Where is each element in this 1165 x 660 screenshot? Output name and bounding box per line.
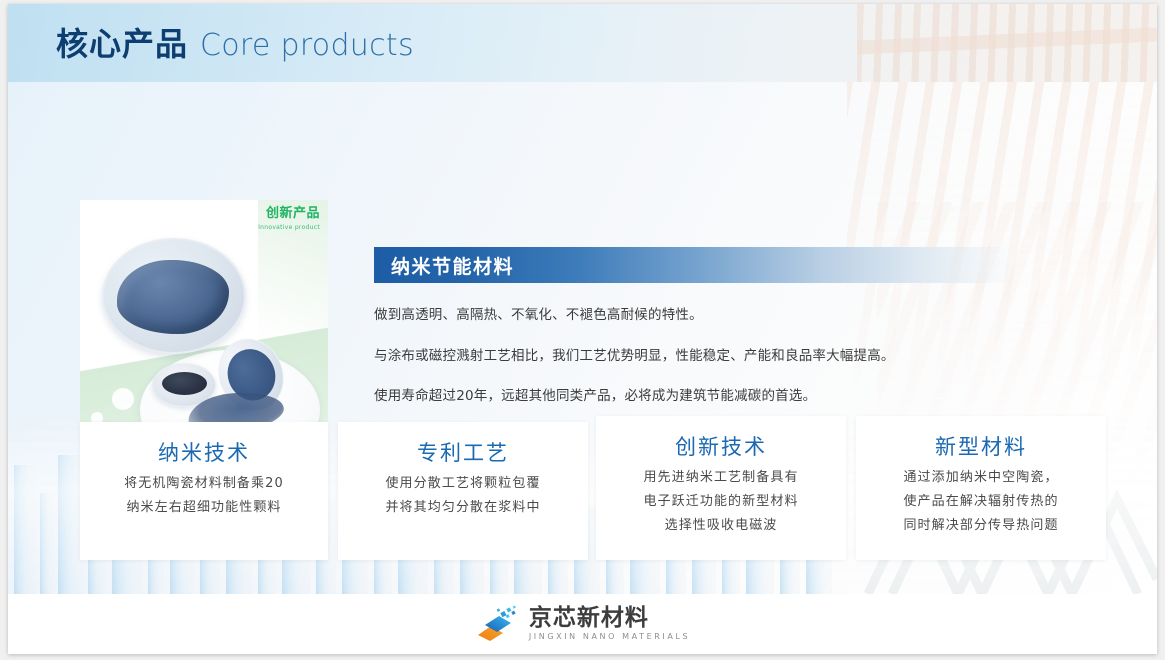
card-title: 创新技术 bbox=[596, 434, 846, 460]
slide: 核心产品Core products bbox=[8, 4, 1157, 654]
dark-grains bbox=[162, 372, 207, 395]
logo-mark-icon bbox=[475, 605, 519, 643]
page-title: 核心产品Core products bbox=[56, 22, 414, 72]
card-innovative-technology[interactable]: 创新技术 用先进纳米工艺制备具有 电子跃迁功能的新型材料 选择性吸收电磁波 bbox=[596, 416, 846, 560]
card-line: 使用分散工艺将颗粒包覆 bbox=[338, 472, 588, 496]
decorative-bubble bbox=[112, 388, 134, 410]
feature-banner: 纳米节能材料 bbox=[374, 247, 1014, 283]
product-image-label-cn: 创新产品 bbox=[258, 206, 320, 222]
logo-company-name-cn: 京芯新材料 bbox=[529, 607, 690, 630]
feature-banner-title: 纳米节能材料 bbox=[391, 252, 514, 279]
product-image-label-en: Innovative product bbox=[258, 224, 320, 232]
feature-block: 纳米节能材料 做到高透明、高隔热、不氧化、不褪色高耐候的特性。 与涂布或磁控溅射… bbox=[374, 247, 1074, 427]
card-line: 将无机陶瓷材料制备乘20 bbox=[80, 472, 328, 496]
logo-company-name-en: JINGXIN NANO MATERIALS bbox=[529, 633, 690, 641]
feature-paragraph: 与涂布或磁控溅射工艺相比，我们工艺优势明显，性能稳定、产能和良品率大幅提高。 bbox=[374, 346, 1074, 368]
header-building-watermark bbox=[857, 4, 1157, 82]
card-title: 新型材料 bbox=[856, 434, 1106, 460]
page-title-en: Core products bbox=[200, 28, 414, 63]
card-title: 纳米技术 bbox=[80, 440, 328, 466]
blue-nano-powder bbox=[117, 260, 229, 334]
card-new-material[interactable]: 新型材料 通过添加纳米中空陶瓷， 使产品在解决辐射传热的 同时解决部分传导热问题 bbox=[856, 416, 1106, 560]
card-line: 纳米左右超细功能性颗料 bbox=[80, 496, 328, 520]
logo-text: 京芯新材料 JINGXIN NANO MATERIALS bbox=[529, 607, 690, 641]
feature-paragraph: 使用寿命超过20年，远超其他同类产品，必将成为建筑节能减碳的首选。 bbox=[374, 386, 1074, 408]
card-line: 同时解决部分传导热问题 bbox=[856, 514, 1106, 538]
slide-footer: 京芯新材料 JINGXIN NANO MATERIALS bbox=[8, 594, 1157, 654]
card-nano-technology[interactable]: 纳米技术 将无机陶瓷材料制备乘20 纳米左右超细功能性颗料 bbox=[80, 422, 328, 560]
card-body: 使用分散工艺将颗粒包覆 并将其均匀分散在浆料中 bbox=[338, 472, 588, 520]
card-title: 专利工艺 bbox=[338, 440, 588, 466]
card-line: 用先进纳米工艺制备具有 bbox=[596, 466, 846, 490]
feature-paragraphs: 做到高透明、高隔热、不氧化、不褪色高耐候的特性。 与涂布或磁控溅射工艺相比，我们… bbox=[374, 305, 1074, 408]
card-body: 将无机陶瓷材料制备乘20 纳米左右超细功能性颗料 bbox=[80, 472, 328, 520]
page-title-cn: 核心产品 bbox=[56, 25, 188, 63]
feature-cards: 纳米技术 将无机陶瓷材料制备乘20 纳米左右超细功能性颗料 专利工艺 使用分散工… bbox=[8, 416, 1157, 566]
card-line: 通过添加纳米中空陶瓷， bbox=[856, 466, 1106, 490]
card-line: 选择性吸收电磁波 bbox=[596, 514, 846, 538]
feature-paragraph: 做到高透明、高隔热、不氧化、不褪色高耐候的特性。 bbox=[374, 305, 1074, 327]
card-body: 通过添加纳米中空陶瓷， 使产品在解决辐射传热的 同时解决部分传导热问题 bbox=[856, 466, 1106, 538]
slide-body: 创新产品 Innovative product 纳米节能材料 做到高透明、高隔热… bbox=[8, 82, 1157, 594]
card-body: 用先进纳米工艺制备具有 电子跃迁功能的新型材料 选择性吸收电磁波 bbox=[596, 466, 846, 538]
product-image-label: 创新产品 Innovative product bbox=[258, 206, 320, 232]
card-line: 电子跃迁功能的新型材料 bbox=[596, 490, 846, 514]
card-line: 使产品在解决辐射传热的 bbox=[856, 490, 1106, 514]
card-line: 并将其均匀分散在浆料中 bbox=[338, 496, 588, 520]
petri-dish-powder bbox=[102, 238, 246, 354]
card-patented-process[interactable]: 专利工艺 使用分散工艺将颗粒包覆 并将其均匀分散在浆料中 bbox=[338, 422, 588, 560]
company-logo: 京芯新材料 JINGXIN NANO MATERIALS bbox=[475, 605, 690, 643]
slide-header: 核心产品Core products bbox=[8, 4, 1157, 82]
